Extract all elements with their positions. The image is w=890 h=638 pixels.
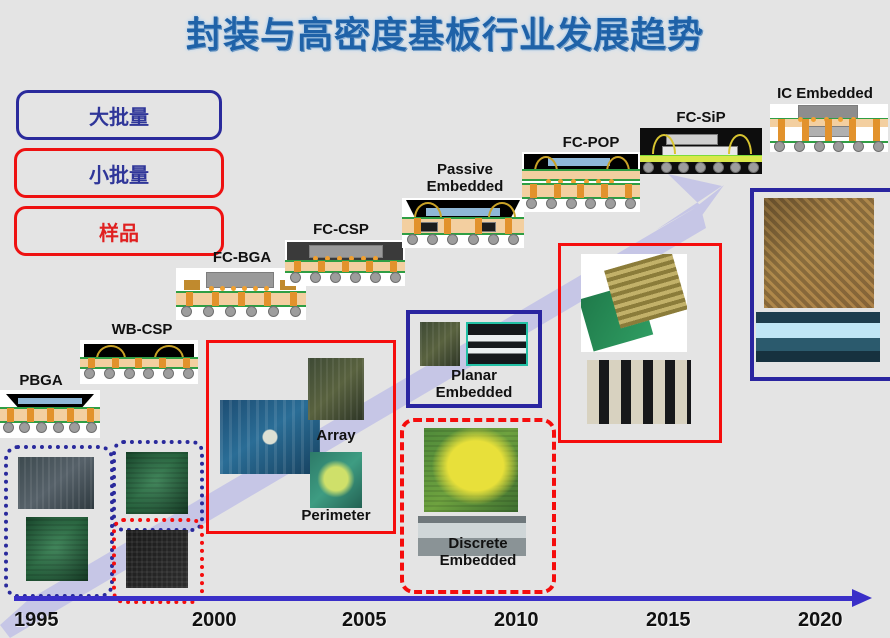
photo-perimeter-substrate <box>310 452 362 508</box>
package-image-ic-embedded <box>770 104 888 152</box>
page-title: 封装与高密度基板行业发展趋势 <box>0 6 890 58</box>
group-label-planar-embedded: Planar Embedded <box>410 368 538 402</box>
legend-label-sample: 样品 <box>99 217 139 246</box>
timeline-year-2020: 2020 <box>798 609 843 632</box>
photo-buildup-xsection <box>587 360 691 424</box>
photo-array-substrate <box>308 358 364 420</box>
package-label-fc-pop: FC-POP <box>545 135 637 152</box>
group-bottom-red-dash[interactable] <box>112 518 204 604</box>
group-bottom-blue-dash-a[interactable] <box>4 445 114 598</box>
timeline-arrow-icon <box>852 589 872 607</box>
package-label-ic-embedded: IC Embedded <box>760 86 890 103</box>
package-image-fc-pop <box>522 152 640 212</box>
legend-item-sample[interactable]: 样品 <box>14 206 224 256</box>
timeline-year-2010: 2010 <box>494 609 539 632</box>
photo-substrate-pair <box>581 254 687 352</box>
package-label-wb-csp: WB-CSP <box>92 322 192 339</box>
timeline-year-2005: 2005 <box>342 609 387 632</box>
legend-item-low-volume[interactable]: 小批量 <box>14 148 224 198</box>
legend-item-high-volume[interactable]: 大批量 <box>16 90 222 140</box>
photo-cavity-substrate <box>26 517 88 581</box>
group-label-array: Array <box>296 428 376 445</box>
timeline-year-2015: 2015 <box>646 609 691 632</box>
photo-planar-embedded-xsection <box>466 322 528 366</box>
photo-black-ceramic-package <box>126 530 188 588</box>
package-label-pbga: PBGA <box>4 373 78 390</box>
group-label-discrete-embedded: Discrete Embedded <box>404 536 552 570</box>
package-image-wb-csp <box>80 340 198 384</box>
slide-canvas: 封装与高密度基板行业发展趋势 大批量 小批量 样品 PBGA WB-CSP <box>0 0 890 638</box>
package-image-fc-sip <box>640 128 762 174</box>
package-image-fc-csp <box>285 240 405 286</box>
photo-module-multichip <box>18 457 94 509</box>
photo-substrate-xsection <box>756 312 880 362</box>
package-label-fc-bga: FC-BGA <box>196 250 288 267</box>
legend-label-low-volume: 小批量 <box>89 159 149 188</box>
group-right-red-box[interactable] <box>558 243 722 443</box>
timeline-year-2000: 2000 <box>192 609 237 632</box>
group-discrete-embedded[interactable]: Discrete Embedded <box>400 418 556 594</box>
group-label-perimeter: Perimeter <box>288 508 384 525</box>
package-label-fc-sip: FC-SiP <box>658 110 744 127</box>
group-planar-embedded[interactable]: Planar Embedded <box>406 310 542 408</box>
photo-discrete-embedded-board <box>424 428 518 512</box>
photo-ic-on-substrate <box>764 198 874 308</box>
legend-label-high-volume: 大批量 <box>89 101 149 130</box>
package-image-passive-embedded <box>402 198 524 248</box>
package-label-passive-embedded: Passive Embedded <box>410 162 520 196</box>
package-image-pbga <box>0 390 100 438</box>
timeline-year-1995: 1995 <box>14 609 59 632</box>
photo-planar-embedded-module <box>420 322 460 366</box>
package-label-fc-csp: FC-CSP <box>295 222 387 239</box>
timeline-axis <box>14 596 854 601</box>
group-right-blue-box[interactable] <box>750 188 890 381</box>
photo-green-substrate <box>126 452 188 514</box>
